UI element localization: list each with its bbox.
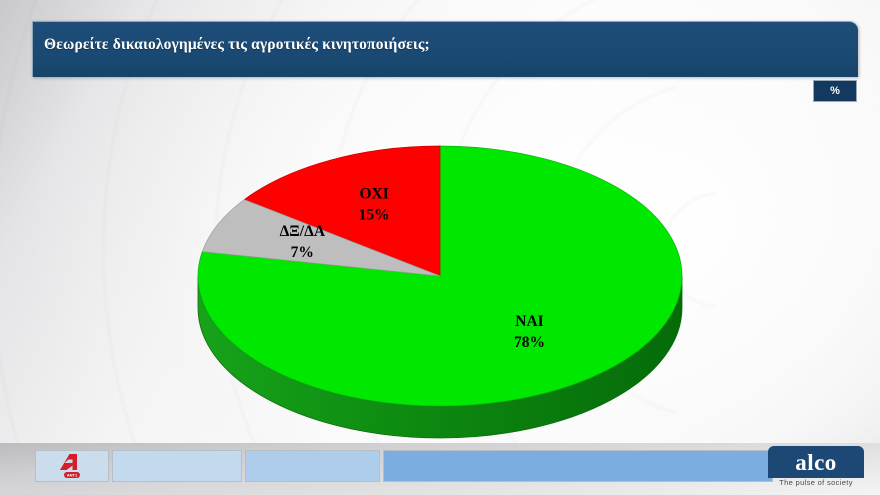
label-nai-name: ΝΑΙ	[515, 313, 543, 330]
pie-chart: ΔΞ/ΔΑ 7% ΟΧΙ 15% ΝΑΙ 78%	[180, 108, 700, 413]
ant1-a-logo-icon: ANT1	[55, 452, 89, 480]
footer-segment-strip: ANT1	[35, 450, 861, 482]
svg-text:ANT1: ANT1	[67, 473, 78, 478]
alco-logo: alco	[768, 446, 864, 478]
question-title-bar: Θεωρείτε δικαιολογημένες τις αγροτικές κ…	[32, 21, 858, 77]
question-text: Θεωρείτε δικαιολογημένες τις αγροτικές κ…	[44, 36, 430, 54]
alco-wordmark: alco	[795, 451, 837, 474]
footer-segment-logo: ANT1	[35, 450, 109, 482]
label-nai-value: 78%	[514, 334, 545, 351]
label-dxda-name: ΔΞ/ΔΑ	[280, 223, 326, 240]
label-oxi-value: 15%	[359, 207, 390, 224]
footer-segment-3	[245, 450, 380, 482]
pie-chart-svg: ΔΞ/ΔΑ 7% ΟΧΙ 15% ΝΑΙ 78%	[180, 108, 700, 413]
slide: Θεωρείτε δικαιολογημένες τις αγροτικές κ…	[0, 0, 880, 495]
percent-symbol: %	[830, 85, 840, 97]
footer-segment-2	[112, 450, 242, 482]
label-oxi-name: ΟΧΙ	[359, 186, 388, 203]
label-dxda-value: 7%	[291, 244, 314, 261]
footer-segment-4	[383, 450, 773, 482]
pie-top-face	[198, 146, 682, 406]
percent-badge: %	[813, 80, 857, 102]
alco-tagline: The pulse of society	[768, 478, 864, 487]
